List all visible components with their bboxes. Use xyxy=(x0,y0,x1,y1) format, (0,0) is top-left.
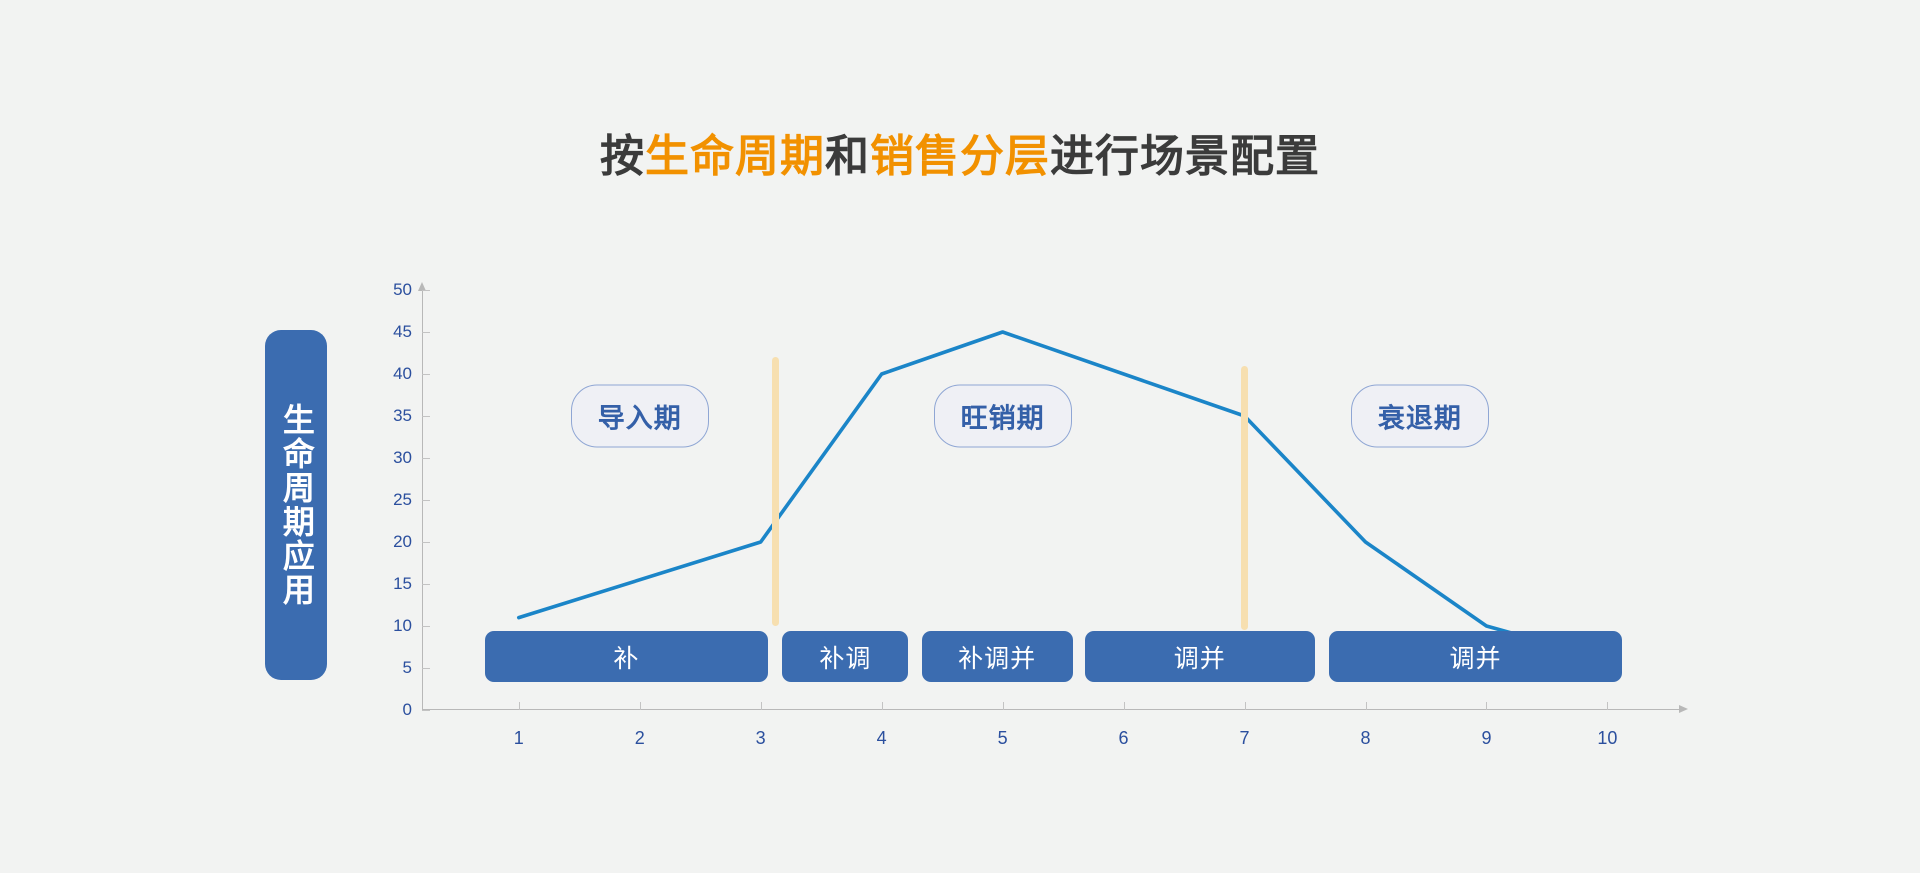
lifecycle-side-tab-label: 生命周期应用 xyxy=(278,403,314,607)
x-tick xyxy=(1486,702,1487,710)
x-tick-label: 2 xyxy=(635,728,645,749)
y-tick xyxy=(422,626,430,627)
x-tick xyxy=(1003,702,1004,710)
x-tick-label: 9 xyxy=(1481,728,1491,749)
y-axis-labels: 05101520253035404550 xyxy=(380,290,420,710)
y-tick xyxy=(422,332,430,333)
y-tick xyxy=(422,374,430,375)
y-tick xyxy=(422,584,430,585)
scenario-bar[interactable]: 补 xyxy=(485,631,768,682)
page-title: 按生命周期和销售分层进行场景配置 xyxy=(0,120,1920,184)
scenario-bar[interactable]: 调并 xyxy=(1329,631,1622,682)
stage-divider xyxy=(772,357,779,626)
y-tick-label: 25 xyxy=(393,490,412,510)
title-segment-2: 生命周期 xyxy=(645,132,825,181)
y-tick-label: 20 xyxy=(393,532,412,552)
x-tick-label: 4 xyxy=(877,728,887,749)
stage-pill[interactable]: 导入期 xyxy=(571,385,709,448)
y-tick-label: 30 xyxy=(393,448,412,468)
scenario-bar[interactable]: 调并 xyxy=(1085,631,1315,682)
y-tick xyxy=(422,542,430,543)
x-tick xyxy=(1124,702,1125,710)
line-series xyxy=(519,332,1608,660)
y-tick-label: 10 xyxy=(393,616,412,636)
plot-area: 12345678910补补调补调并调并调并导入期旺销期衰退期 xyxy=(422,290,1680,710)
x-tick xyxy=(761,702,762,710)
scenario-bar[interactable]: 补调并 xyxy=(922,631,1073,682)
x-tick-label: 3 xyxy=(756,728,766,749)
y-tick-label: 50 xyxy=(393,280,412,300)
stage-pill[interactable]: 衰退期 xyxy=(1351,385,1489,448)
y-tick-label: 15 xyxy=(393,574,412,594)
x-tick xyxy=(1366,702,1367,710)
x-tick-label: 5 xyxy=(998,728,1008,749)
y-tick xyxy=(422,500,430,501)
y-tick xyxy=(422,458,430,459)
y-tick xyxy=(422,710,430,711)
x-tick-label: 7 xyxy=(1240,728,1250,749)
y-tick-label: 45 xyxy=(393,322,412,342)
x-tick-label: 10 xyxy=(1597,728,1617,749)
y-tick xyxy=(422,290,430,291)
y-tick-label: 0 xyxy=(403,700,412,720)
title-segment-4: 销售分层 xyxy=(870,132,1050,181)
scenario-bar[interactable]: 补调 xyxy=(782,631,908,682)
x-tick-label: 1 xyxy=(514,728,524,749)
lifecycle-side-tab[interactable]: 生命周期应用 xyxy=(265,330,327,680)
x-tick-label: 8 xyxy=(1360,728,1370,749)
x-tick xyxy=(882,702,883,710)
stage-divider xyxy=(1241,366,1248,631)
x-tick xyxy=(519,702,520,710)
x-tick xyxy=(1245,702,1246,710)
x-tick xyxy=(640,702,641,710)
x-tick-label: 6 xyxy=(1119,728,1129,749)
y-tick-label: 40 xyxy=(393,364,412,384)
y-tick-label: 5 xyxy=(403,658,412,678)
x-tick xyxy=(1607,702,1608,710)
title-segment-5: 进行场景配置 xyxy=(1050,132,1320,181)
y-tick-label: 35 xyxy=(393,406,412,426)
lifecycle-chart: 05101520253035404550 12345678910补补调补调并调并… xyxy=(380,290,1680,710)
title-segment-3: 和 xyxy=(825,132,870,181)
y-tick xyxy=(422,668,430,669)
stage-pill[interactable]: 旺销期 xyxy=(934,385,1072,448)
y-tick xyxy=(422,416,430,417)
title-segment-1: 按 xyxy=(600,132,645,181)
